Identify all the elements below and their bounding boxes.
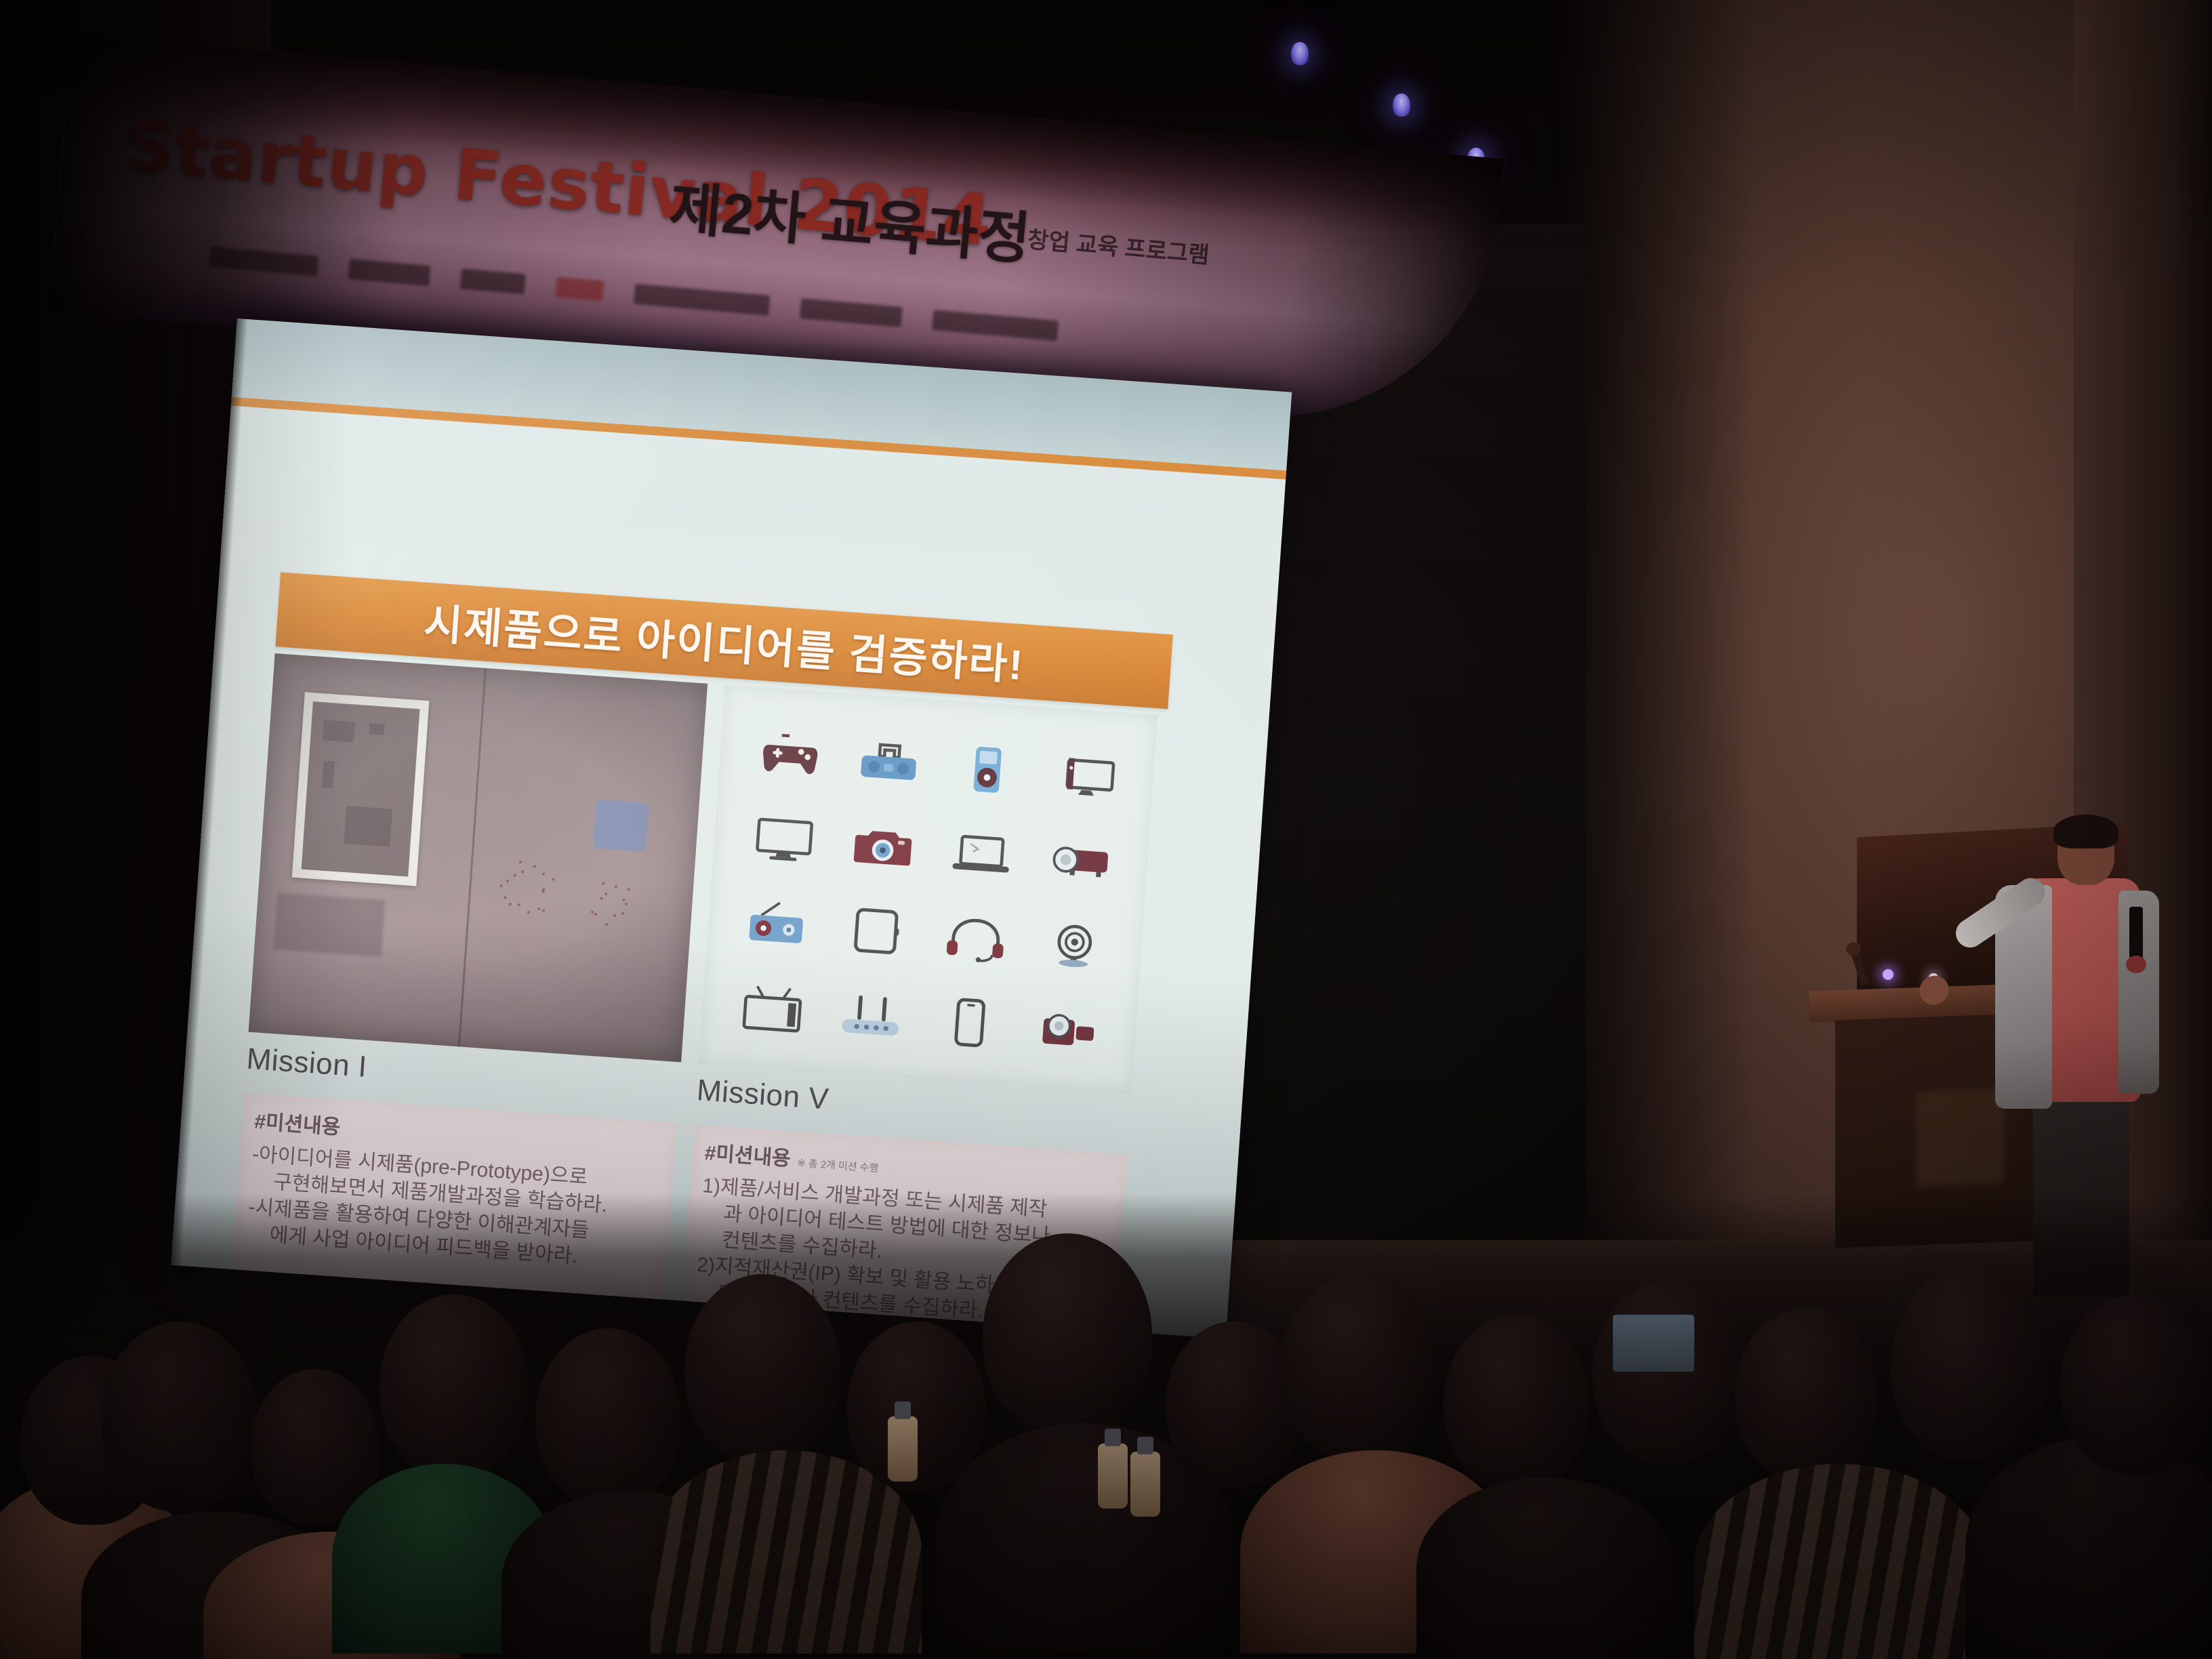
audience-shoulders [1965, 1437, 2212, 1659]
tablet-icon [838, 898, 916, 965]
sticky-note-dot [537, 908, 540, 911]
banner-subtitle-small: 창업 교육 프로그램 [1026, 221, 1210, 270]
sticky-note-dot [513, 874, 516, 876]
seated-audience [0, 1193, 2212, 1659]
audience-head [1166, 1322, 1301, 1488]
audience-laptop [1613, 1315, 1694, 1372]
sponsor-logo [634, 284, 771, 316]
boombox-icon [851, 729, 928, 796]
sticky-note-dot [613, 914, 615, 917]
sticky-note-dot [622, 899, 625, 901]
desktop-monitor-icon [745, 806, 823, 874]
sticky-note-dot [542, 888, 545, 890]
projector-icon [1042, 827, 1119, 895]
sticky-note-dot [504, 896, 506, 899]
sticky-note-dot [628, 888, 630, 890]
camcorder-icon [1030, 996, 1107, 1063]
sticky-note-dot [542, 909, 545, 912]
sticky-note-dot [602, 882, 605, 885]
sticky-note-dot [594, 912, 597, 915]
water-bottle [1098, 1443, 1128, 1509]
audience-head [1281, 1274, 1437, 1460]
ceiling-light-icon [1291, 42, 1309, 65]
audience-head [535, 1328, 681, 1508]
mission-heading-text: #미션내용 [253, 1105, 342, 1141]
sticky-note-dot [542, 873, 545, 876]
sponsor-logo [460, 268, 526, 294]
audience-head [2060, 1294, 2212, 1474]
sponsor-logo [555, 277, 604, 302]
mp3-player-icon [949, 736, 1026, 803]
mission-heading-text: #미션내용 [703, 1136, 792, 1172]
sticky-note-dot [615, 885, 617, 888]
sponsor-logo [800, 298, 903, 327]
sticky-note-dot [509, 903, 512, 905]
sticky-note-dot [527, 911, 530, 914]
audience-head [380, 1294, 529, 1477]
headset-icon [937, 905, 1015, 972]
framed-paper-prototype [292, 692, 430, 886]
audience-head [684, 1274, 840, 1464]
crt-tv-icon [734, 975, 811, 1042]
presenter-hair [2053, 815, 2118, 848]
sticky-note-dot [600, 897, 603, 900]
device-icon-panel [699, 685, 1158, 1094]
wifi-router-icon [832, 982, 909, 1049]
smartphone-icon [931, 989, 1008, 1056]
tv-monitor-icon [1048, 743, 1125, 811]
audience-head [1735, 1308, 1877, 1481]
sticky-note-dot [517, 903, 520, 906]
audience-head [1443, 1315, 1589, 1491]
webcam-icon [1036, 912, 1113, 979]
sticky-note-dot [621, 912, 624, 915]
sticky-note-dot [506, 880, 509, 882]
podium-indicator-light [1883, 969, 1893, 980]
sticky-note-dot [605, 893, 607, 895]
device-icon-grid [720, 711, 1139, 1076]
ceiling-light-icon [1393, 94, 1410, 117]
sticky-note-dot [591, 910, 594, 913]
sticky-note-dot [499, 885, 502, 888]
camera-icon [844, 813, 922, 880]
lecture-hall-photo: Startup Festival 2014 제2차 교육과정 창업 교육 프로그… [0, 0, 2212, 1659]
audience-shoulders [1416, 1477, 1674, 1659]
handheld-microphone-icon [2129, 907, 2143, 960]
audience-head [983, 1233, 1152, 1437]
sticky-note-dot [519, 861, 522, 863]
sticky-note-dot [625, 903, 628, 905]
sponsor-logo [932, 310, 1059, 341]
water-bottle [888, 1416, 918, 1481]
laptop-icon [943, 821, 1020, 888]
sticky-note-dot [605, 923, 608, 926]
water-bottle [1130, 1452, 1160, 1517]
sticky-note-dot [521, 870, 524, 873]
blue-sticky-note [593, 800, 649, 852]
mission-heading-note: ※ 총 2개 미션 수행 [797, 1155, 880, 1175]
sticky-note-dot [533, 865, 535, 867]
audience-head [1891, 1267, 2050, 1460]
audience-head [102, 1322, 258, 1511]
prototype-wall-photo [249, 653, 708, 1062]
audience-head [1593, 1281, 1745, 1464]
audience-shoulders [1694, 1464, 1986, 1659]
portable-radio-icon [739, 890, 817, 958]
sponsor-logo [348, 259, 430, 286]
slide-panels [249, 653, 1168, 1094]
sticky-note-dot [552, 878, 555, 881]
sponsor-logo [209, 247, 319, 276]
gamepad-icon [752, 722, 829, 790]
